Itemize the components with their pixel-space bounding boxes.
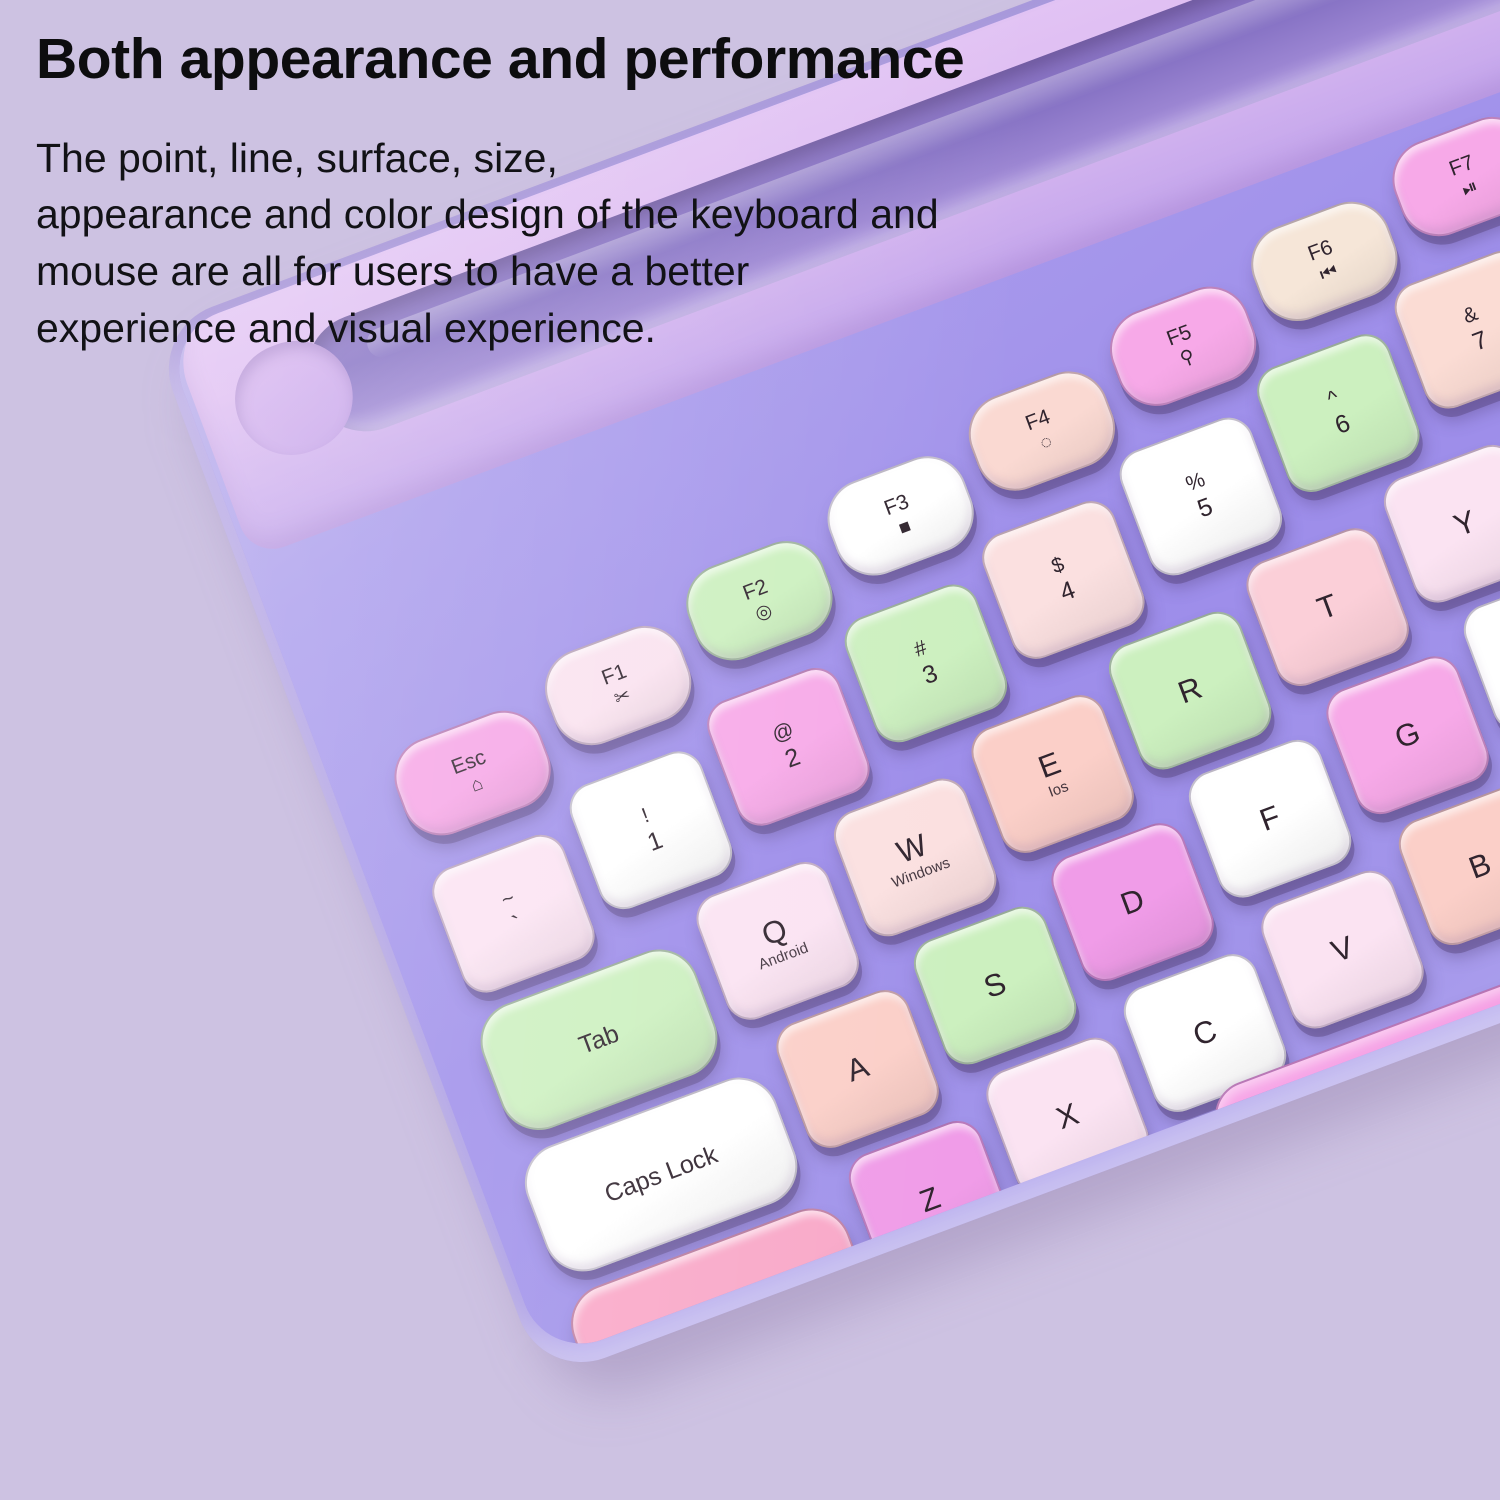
key-legend: E — [1034, 747, 1065, 785]
key-f1[interactable]: F1✂ — [534, 614, 703, 756]
key-legend: V — [1327, 931, 1358, 969]
key-legend: 5 — [1194, 494, 1216, 523]
key-legend: F4 — [1023, 406, 1054, 435]
key-k7[interactable]: &7 — [1387, 243, 1500, 416]
page-title: Both appearance and performance — [36, 28, 1216, 92]
key-s[interactable]: S — [906, 899, 1083, 1072]
key-legend: 4 — [1057, 577, 1079, 606]
key-shift-legend: @ — [769, 719, 797, 747]
key-f3[interactable]: F3■ — [816, 445, 985, 587]
key-shift-legend: $ — [1049, 554, 1068, 579]
key-esc[interactable]: Esc⌂ — [383, 699, 562, 847]
key-legend: Win — [970, 1307, 1020, 1347]
key-d[interactable]: D — [1044, 816, 1221, 989]
key-legend: F — [1256, 800, 1285, 837]
key-shift-legend: ! — [639, 805, 652, 828]
key-caps[interactable]: Caps Lock — [513, 1066, 808, 1283]
key-legend: Y — [1450, 505, 1481, 543]
key-legend: F2 — [740, 575, 771, 604]
key-shift-legend: ^ — [1325, 387, 1342, 411]
key-legend: Z — [915, 1181, 944, 1218]
marketing-text-block: Both appearance and performance The poin… — [36, 28, 1216, 356]
key-legend: 6 — [1332, 410, 1354, 439]
key-e[interactable]: EIos — [964, 688, 1141, 861]
key-legend: F7 — [1446, 151, 1477, 180]
body-paragraph: The point, line, surface, size, appearan… — [36, 130, 1216, 356]
key-icon: ⌂ — [468, 773, 486, 796]
key-legend: A — [842, 1050, 873, 1088]
body-line: appearance and color design of the keybo… — [36, 186, 1216, 243]
key-tab[interactable]: Tab — [469, 938, 729, 1141]
key-legend: Q — [758, 913, 792, 952]
key-shift-legend: ~ — [499, 888, 518, 913]
key-f[interactable]: F — [1181, 732, 1358, 905]
key-icon: ◌ — [1037, 431, 1055, 454]
body-line: mouse are all for users to have a better — [36, 243, 1216, 300]
key-b[interactable]: B — [1391, 780, 1500, 953]
key-shift-legend: % — [1183, 469, 1208, 496]
key-legend: 1 — [644, 827, 666, 856]
key-legend: B — [1465, 847, 1496, 885]
key-legend: 2 — [782, 744, 804, 773]
key-q[interactable]: QAndroid — [689, 855, 866, 1028]
key-legend: X — [1052, 1098, 1083, 1136]
key-k5[interactable]: %5 — [1112, 410, 1289, 583]
key-legend: Alt — [1133, 1219, 1170, 1254]
key-icon: ■ — [896, 516, 914, 539]
key-legend: C — [1189, 1014, 1221, 1052]
key-tilde[interactable]: ~` — [425, 827, 602, 1000]
key-g[interactable]: G — [1319, 649, 1496, 822]
key-legend: F6 — [1305, 236, 1336, 265]
key-legend: T — [1313, 589, 1342, 626]
key-icon: ◎ — [753, 600, 776, 624]
key-a[interactable]: A — [769, 983, 946, 1156]
key-k4[interactable]: $4 — [975, 494, 1152, 667]
key-legend: Caps Lock — [601, 1142, 721, 1208]
key-legend: W — [893, 829, 932, 870]
key-spacebar[interactable]: FOPETT — [1205, 785, 1500, 1228]
key-f2[interactable]: F2◎ — [675, 530, 844, 672]
key-shift-legend: # — [911, 637, 930, 662]
key-f4[interactable]: F4◌ — [957, 360, 1126, 502]
key-legend: 7 — [1469, 327, 1491, 356]
body-line: experience and visual experience. — [36, 300, 1216, 357]
key-icon: ✂ — [612, 685, 634, 709]
key-w[interactable]: WWindows — [826, 771, 1003, 944]
key-y[interactable]: Y — [1376, 437, 1500, 610]
key-sublabel: Windows — [890, 856, 953, 892]
key-k1[interactable]: !1 — [562, 744, 739, 917]
key-t[interactable]: T — [1239, 521, 1416, 694]
key-legend: R — [1174, 671, 1206, 709]
key-legend: S — [980, 967, 1011, 1005]
key-icon: ⏮ — [1317, 261, 1340, 286]
key-v[interactable]: V — [1254, 863, 1431, 1036]
key-sublabel: Ios — [1047, 779, 1071, 801]
key-legend: ` — [509, 912, 526, 940]
key-legend: F3 — [881, 491, 912, 520]
key-k3[interactable]: #3 — [837, 577, 1014, 750]
key-sublabel: Android — [757, 941, 811, 974]
key-k6[interactable]: ^6 — [1250, 327, 1427, 500]
key-h[interactable]: H — [1456, 565, 1500, 738]
key-legend: G — [1391, 716, 1425, 755]
key-legend: Tab — [576, 1020, 623, 1059]
key-legend: D — [1116, 883, 1148, 921]
key-legend: Esc — [448, 746, 489, 779]
body-line: The point, line, surface, size, — [36, 130, 1216, 187]
key-legend: F1 — [599, 660, 630, 689]
key-f7[interactable]: F7⏯ — [1381, 105, 1500, 247]
key-icon: ⏯ — [1459, 176, 1480, 200]
key-legend: 3 — [919, 660, 941, 689]
key-k2[interactable]: @2 — [700, 660, 877, 833]
key-r[interactable]: R — [1101, 604, 1278, 777]
key-f6[interactable]: F6⏮ — [1240, 190, 1409, 332]
key-shift-legend: & — [1460, 303, 1481, 329]
